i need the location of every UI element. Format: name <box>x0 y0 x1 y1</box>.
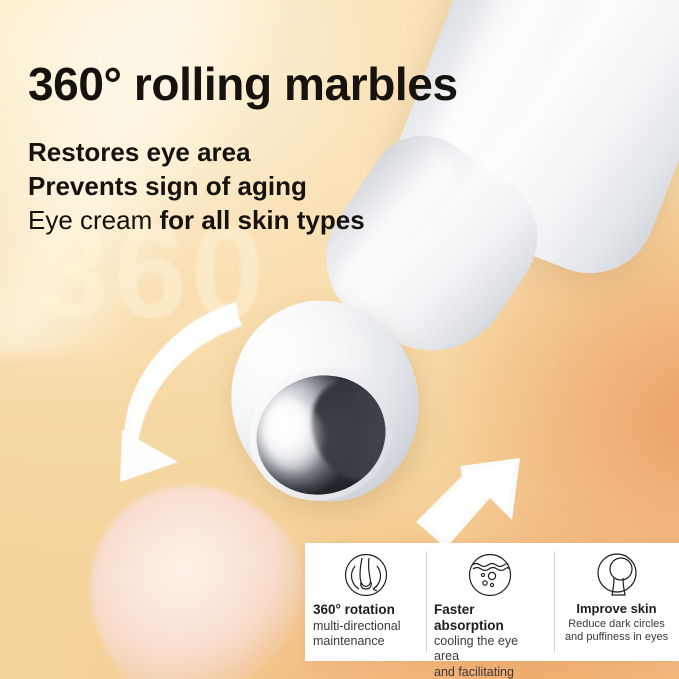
feature-desc-line: maintenance <box>313 634 418 649</box>
roller-rotation-icon <box>313 552 418 598</box>
water-absorption-icon <box>434 552 546 598</box>
page-title: 360° rolling marbles <box>28 57 458 111</box>
feature-panel: 360° rotation multi-directional maintena… <box>305 543 679 661</box>
subline-3-regular: Eye cream <box>28 205 160 235</box>
feature-desc-line: and puffiness in eyes <box>562 631 671 644</box>
feature-item-absorption: Faster absorption cooling the eye area a… <box>426 543 554 661</box>
rollerball-head-icon <box>562 552 671 598</box>
feature-item-improve-skin: Improve skin Reduce dark circles and puf… <box>554 543 679 661</box>
subline-3-bold: for all skin types <box>160 205 365 235</box>
feature-description: Reduce dark circles and puffiness in eye… <box>562 618 671 645</box>
product-poster: 360 360° rolling marbles Restores eye ar… <box>0 0 679 679</box>
feature-title: Improve skin <box>562 602 671 617</box>
feature-desc-line: multi-directional <box>313 619 418 634</box>
curved-arrow-down-icon <box>118 296 268 501</box>
feature-desc-line: Reduce dark circles <box>562 618 671 631</box>
feature-title: 360° rotation <box>313 602 418 618</box>
feature-description: cooling the eye area and facilitating es… <box>434 634 546 679</box>
subline-1: Restores eye area <box>28 136 365 170</box>
subline-2: Prevents sign of aging <box>28 170 365 204</box>
feature-item-rotation: 360° rotation multi-directional maintena… <box>305 543 426 661</box>
feature-title: Faster absorption <box>434 602 546 633</box>
feature-desc-line: and facilitating <box>434 665 546 679</box>
feature-description: multi-directional maintenance <box>313 619 418 650</box>
feature-desc-line: cooling the eye area <box>434 634 546 665</box>
subline-3: Eye cream for all skin types <box>28 204 365 238</box>
subline-list: Restores eye area Prevents sign of aging… <box>28 136 365 237</box>
